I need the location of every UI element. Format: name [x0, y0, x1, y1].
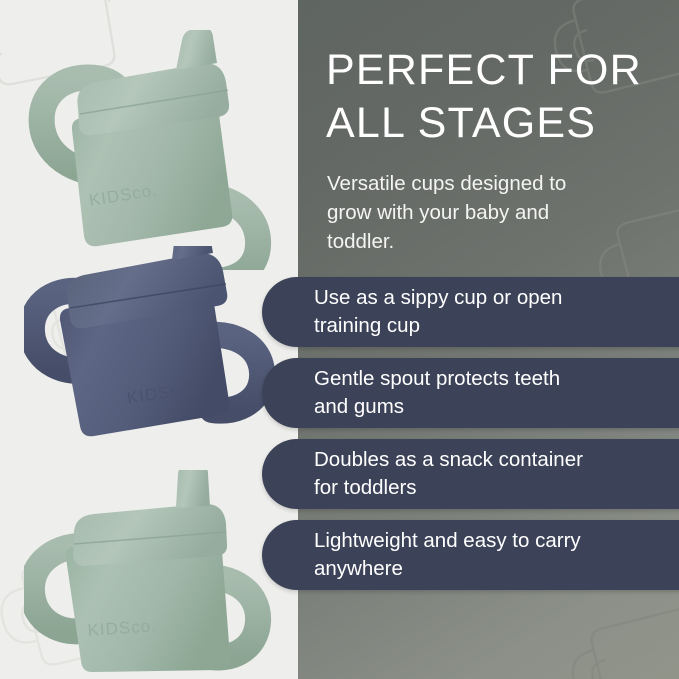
- feature-pill-1-label: Use as a sippy cup or open training cup: [262, 284, 580, 340]
- feature-list: Use as a sippy cup or open training cup …: [0, 0, 679, 679]
- feature-pill-3-label: Doubles as a snack container for toddler…: [262, 446, 601, 502]
- feature-pill-1: Use as a sippy cup or open training cup: [262, 277, 679, 347]
- feature-pill-4: Lightweight and easy to carry anywhere: [262, 520, 679, 590]
- feature-pill-2: Gentle spout protects teeth and gums: [262, 358, 679, 428]
- feature-pill-2-label: Gentle spout protects teeth and gums: [262, 365, 578, 421]
- infographic-canvas: KIDSco.: [0, 0, 679, 679]
- feature-pill-4-label: Lightweight and easy to carry anywhere: [262, 527, 599, 583]
- feature-pill-3: Doubles as a snack container for toddler…: [262, 439, 679, 509]
